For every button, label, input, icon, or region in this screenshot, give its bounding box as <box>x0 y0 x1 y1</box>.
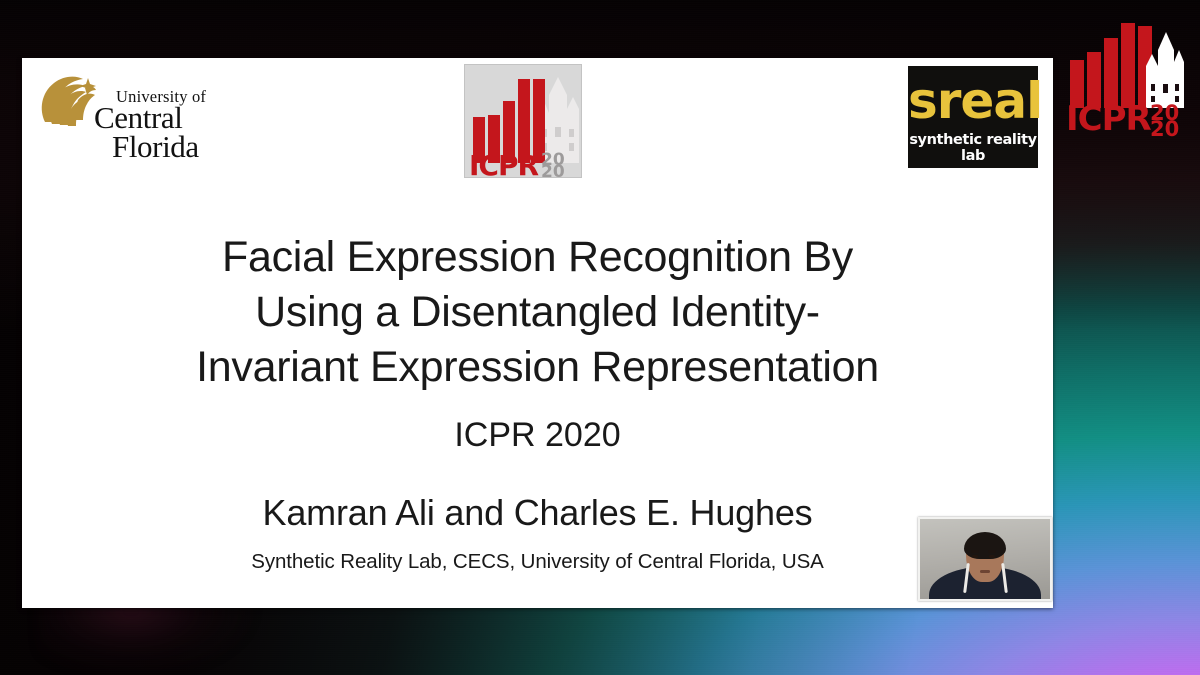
watermark-acronym: ICPR <box>1066 99 1152 138</box>
ucf-pegasus-icon <box>38 70 100 140</box>
presenter-eye-left <box>972 555 978 558</box>
sreal-wordmark: sreal <box>908 74 1038 128</box>
presentation-video-frame: ICPR 20 20 <box>0 0 1200 675</box>
ucf-logo: University of Central Florida <box>36 68 226 188</box>
icpr-watermark-logo: ICPR 20 20 <box>1062 10 1190 138</box>
ucf-wordmark: University of Central Florida <box>94 89 226 162</box>
authors: Kamran Ali and Charles E. Hughes <box>62 492 1013 534</box>
presenter-eyebrow-right <box>988 550 996 553</box>
icpr-acronym: ICPR <box>469 149 538 177</box>
presentation-slide[interactable]: University of Central Florida <box>22 58 1053 608</box>
slide-title: Facial Expression Recognition By Using a… <box>62 230 1013 395</box>
conference-name: ICPR 2020 <box>62 416 1013 455</box>
slide-title-line-1: Facial Expression Recognition By <box>62 230 1013 285</box>
affiliation: Synthetic Reality Lab, CECS, University … <box>62 550 1013 574</box>
presenter-hair <box>964 532 1006 559</box>
watermark-bars <box>1070 23 1152 108</box>
presenter-mouth <box>980 570 990 573</box>
sreal-logo: sreal synthetic reality lab <box>908 66 1038 168</box>
icpr-year-bottom: 20 <box>541 162 565 177</box>
presenter-eyebrow-left <box>971 550 979 553</box>
ucf-line-florida: Florida <box>94 133 226 162</box>
presenter-webcam-thumbnail[interactable] <box>918 517 1052 601</box>
slide-title-line-2: Using a Disentangled Identity- <box>62 285 1013 340</box>
watermark-year-bottom: 20 <box>1150 117 1179 138</box>
icpr-logo: ICPR 20 20 <box>464 64 582 178</box>
slide-logo-row: University of Central Florida <box>22 58 1053 183</box>
presenter-eye-right <box>989 555 995 558</box>
sreal-tagline: synthetic reality lab <box>908 132 1038 164</box>
slide-title-line-3: Invariant Expression Representation <box>62 340 1013 395</box>
